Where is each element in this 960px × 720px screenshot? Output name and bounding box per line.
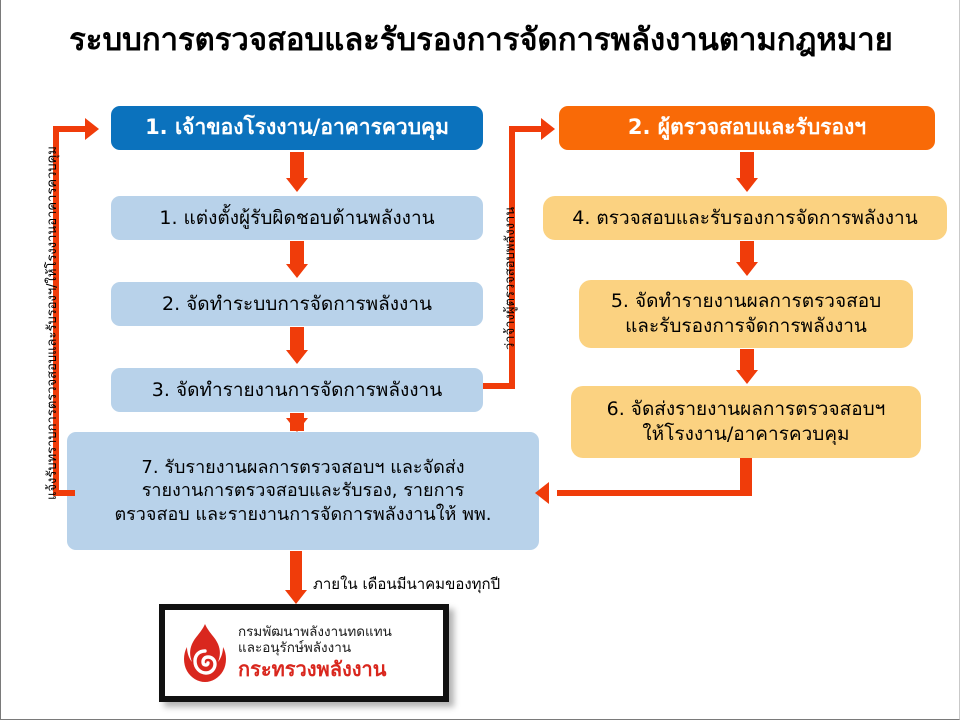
right-step-6-line2: ให้โรงงาน/อาคารควบคุม (642, 422, 849, 447)
left-header-box[interactable]: 1. เจ้าของโรงงาน/อาคารควบคุม (111, 106, 483, 150)
connector-6-to-7-arrow-head-icon (535, 482, 549, 504)
left-step-1[interactable]: 1. แต่งตั้งผู้รับผิดชอบด้านพลังงาน (111, 196, 483, 240)
logo-text-block: กรมพัฒนาพลังงานทดแทน และอนุรักษ์พลังงาน … (238, 624, 392, 683)
flame-icon (183, 624, 227, 682)
arrow-head-right-3-icon (736, 370, 758, 384)
right-step-4[interactable]: 4. ตรวจสอบและรับรองการจัดการพลังงาน (543, 196, 947, 240)
middle-vertical-annotation: ว่าจ้างผู้ตรวจสอบพลังงาน (499, 207, 520, 350)
arrow-shaft-right-1 (740, 152, 754, 180)
right-step-5-line1: 5. จัดทำรายงานผลการตรวจสอบ (611, 289, 881, 314)
left-step-7[interactable]: 7. รับรายงานผลการตรวจสอบฯ และจัดส่ง รายง… (67, 432, 539, 550)
left-step-7-line1: 7. รับรายงานผลการตรวจสอบฯ และจัดส่ง (141, 456, 464, 479)
right-step-5-line2: และรับรองการจัดการพลังงาน (625, 314, 867, 339)
arrow-head-left-3-icon (286, 350, 308, 364)
connector-6-to-7-horizontal (557, 490, 747, 496)
arrow-head-to-logo-icon (285, 590, 307, 604)
arrow-head-left-1-icon (286, 178, 308, 192)
left-vertical-annotation: แจ้งรับทราบการตรวจสอบและรับรองฯ/ให้โรงงา… (41, 146, 62, 500)
dede-logo-panel[interactable]: กรมพัฒนาพลังงานทดแทน และอนุรักษ์พลังงาน … (159, 604, 449, 702)
arrow-shaft-to-logo (290, 551, 302, 593)
connector-left-loop-horizontal-top (59, 126, 87, 132)
page-title: ระบบการตรวจสอบและรับรองการจัดการพลังงานต… (1, 14, 960, 64)
left-step-7-line2: รายงานการตรวจสอบและรับรอง, รายการ (142, 479, 465, 502)
left-step-3[interactable]: 3. จัดทำรายงานการจัดการพลังงาน (111, 368, 483, 412)
diagram-canvas: ระบบการตรวจสอบและรับรองการจัดการพลังงานต… (0, 0, 960, 720)
connector-mid-arrow-head-icon (541, 118, 555, 140)
logo-line-3: กระทรวงพลังงาน (238, 657, 392, 682)
right-step-6-line1: 6. จัดส่งรายงานผลการตรวจสอบฯ (607, 397, 886, 422)
connector-left-loop-arrow-head-icon (85, 118, 99, 140)
arrow-head-left-2-icon (286, 264, 308, 278)
arrow-head-right-1-icon (736, 178, 758, 192)
right-header-box[interactable]: 2. ผู้ตรวจสอบและรับรองฯ (559, 106, 935, 150)
right-step-6[interactable]: 6. จัดส่งรายงานผลการตรวจสอบฯ ให้โรงงาน/อ… (571, 386, 921, 458)
arrow-shaft-left-1 (290, 152, 304, 180)
left-step-7-line3: ตรวจสอบ และรายงานการจัดการพลังงานให้ พพ. (114, 503, 491, 526)
logo-line-2: และอนุรักษ์พลังงาน (238, 640, 392, 656)
left-step-2[interactable]: 2. จัดทำระบบการจัดการพลังงาน (111, 282, 483, 326)
arrow-head-left-4-icon (286, 418, 308, 432)
right-step-5[interactable]: 5. จัดทำรายงานผลการตรวจสอบ และรับรองการจ… (579, 280, 913, 348)
deadline-caption: ภายใน เดือนมีนาคมของทุกปี (313, 572, 500, 596)
logo-line-1: กรมพัฒนาพลังงานทดแทน (238, 624, 392, 640)
arrow-head-right-2-icon (736, 262, 758, 276)
